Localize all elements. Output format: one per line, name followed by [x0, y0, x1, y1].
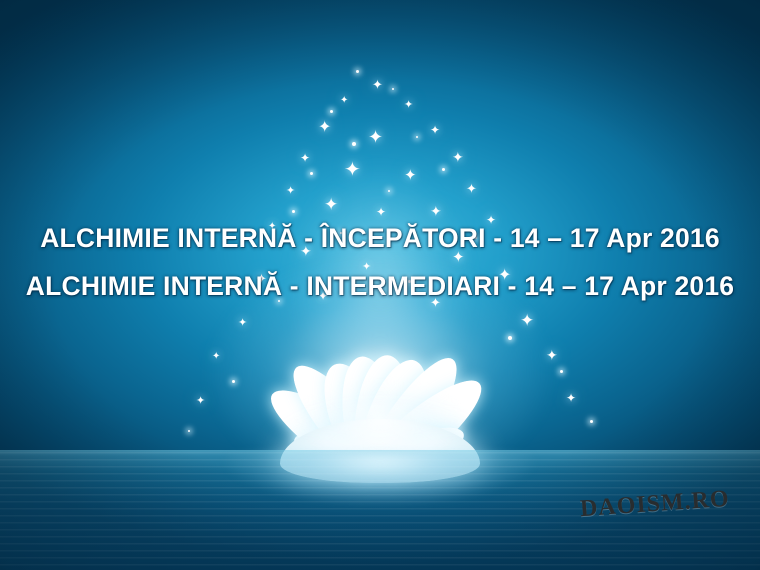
promo-banner: ✦ ✦ ✦ ✦ ✦ ✦ ✦ ✦ ✦ ✦ ✦ ✦ ✦ ✦ ✦ ✦ ✦ ✦ ✦ ✦ …: [0, 0, 760, 570]
title-line-beginners: ALCHIMIE INTERNĂ - ÎNCEPĂTORI - 14 – 17 …: [0, 214, 760, 262]
title-block: ALCHIMIE INTERNĂ - ÎNCEPĂTORI - 14 – 17 …: [0, 214, 760, 310]
title-line-intermediate: ALCHIMIE INTERNĂ - INTERMEDIARI - 14 – 1…: [0, 262, 760, 310]
